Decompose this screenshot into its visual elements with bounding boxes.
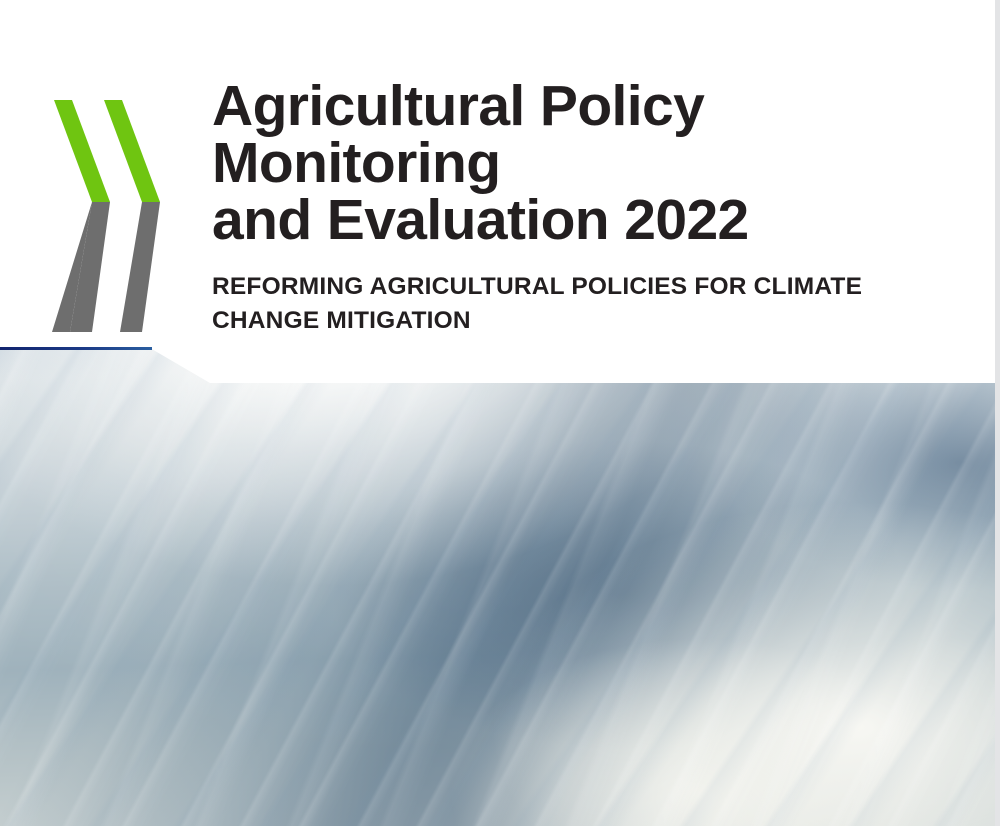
title-block: Agricultural Policy Monitoring and Evalu… bbox=[212, 78, 982, 338]
chevron-2-green-arm bbox=[104, 100, 160, 202]
right-border-strip bbox=[995, 0, 1000, 826]
oecd-double-chevron-logo bbox=[50, 98, 180, 334]
main-title: Agricultural Policy Monitoring and Evalu… bbox=[212, 78, 982, 249]
tab-top-edge-line bbox=[0, 347, 152, 350]
chevron-2-gray-arm bbox=[120, 202, 160, 332]
right-white-gutter bbox=[992, 0, 995, 383]
chevron-1-green-arm bbox=[54, 100, 110, 202]
sub-title: REFORMING AGRICULTURAL POLICIES FOR CLIM… bbox=[212, 249, 982, 338]
book-cover: Agricultural Policy Monitoring and Evalu… bbox=[0, 0, 1000, 826]
